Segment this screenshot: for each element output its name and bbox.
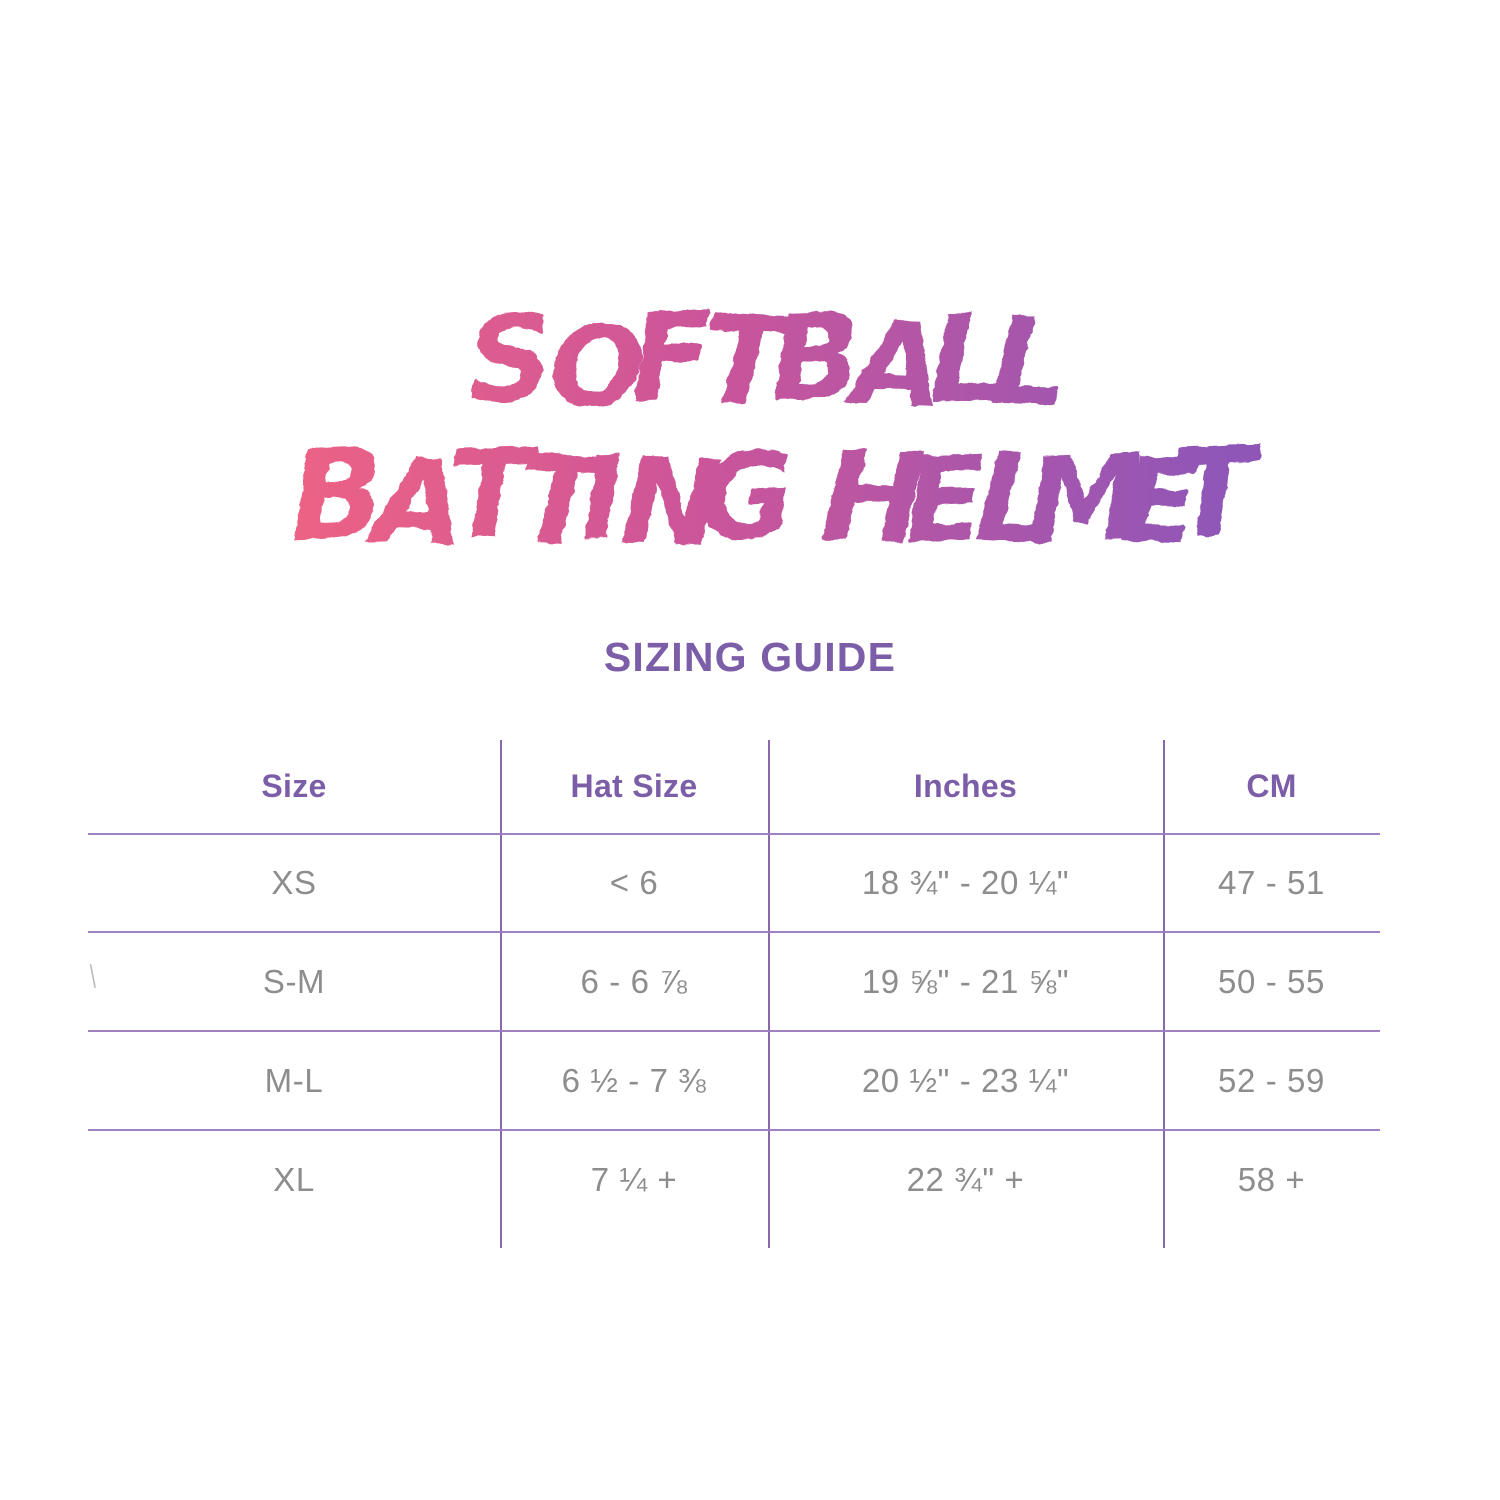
table-row: XL bbox=[88, 1130, 500, 1230]
page-title: S O F T B A L L B A T T I N G H E L bbox=[0, 262, 1500, 562]
table-row: XS bbox=[88, 834, 500, 932]
table-row: 58 + bbox=[1163, 1130, 1380, 1230]
svg-text:T: T bbox=[1168, 419, 1268, 562]
svg-text:G: G bbox=[694, 425, 798, 562]
title-line-2: B A T T I N G H E L M E T bbox=[286, 419, 1268, 562]
table-row: 7 ¼ + bbox=[500, 1130, 768, 1230]
svg-text:B: B bbox=[768, 287, 863, 428]
table-row: M-L bbox=[88, 1031, 500, 1130]
column-header-cm: CM bbox=[1163, 738, 1380, 834]
table-row: 22 ¾" + bbox=[768, 1130, 1163, 1230]
table-row: 20 ½" - 23 ¼" bbox=[768, 1031, 1163, 1130]
table-row: 6 - 6 ⅞ bbox=[500, 932, 768, 1031]
table-row: S-M bbox=[88, 932, 500, 1031]
svg-text:I: I bbox=[578, 431, 626, 562]
table-row: 19 ⅝" - 21 ⅝" bbox=[768, 932, 1163, 1031]
sizing-guide-subtitle: SIZING GUIDE bbox=[0, 634, 1500, 681]
table-row: 50 - 55 bbox=[1163, 932, 1380, 1031]
svg-text:L: L bbox=[989, 292, 1070, 434]
table-row: 47 - 51 bbox=[1163, 834, 1380, 932]
svg-text:S: S bbox=[464, 288, 556, 430]
title-artwork: S O F T B A L L B A T T I N G H E L bbox=[0, 262, 1500, 562]
table-row: 52 - 59 bbox=[1163, 1031, 1380, 1130]
sizing-table: Size Hat Size Inches CM XS < 6 18 ¾" - 2… bbox=[88, 738, 1380, 1250]
table-row: < 6 bbox=[500, 834, 768, 932]
column-header-hat-size: Hat Size bbox=[500, 738, 768, 834]
column-header-inches: Inches bbox=[768, 738, 1163, 834]
sizing-guide-page: S O F T B A L L B A T T I N G H E L bbox=[0, 0, 1500, 1500]
table-row: 18 ¾" - 20 ¼" bbox=[768, 834, 1163, 932]
table-row: 6 ½ - 7 ⅜ bbox=[500, 1031, 768, 1130]
column-header-size: Size bbox=[88, 738, 500, 834]
title-line-1: S O F T B A L L bbox=[464, 287, 1070, 437]
